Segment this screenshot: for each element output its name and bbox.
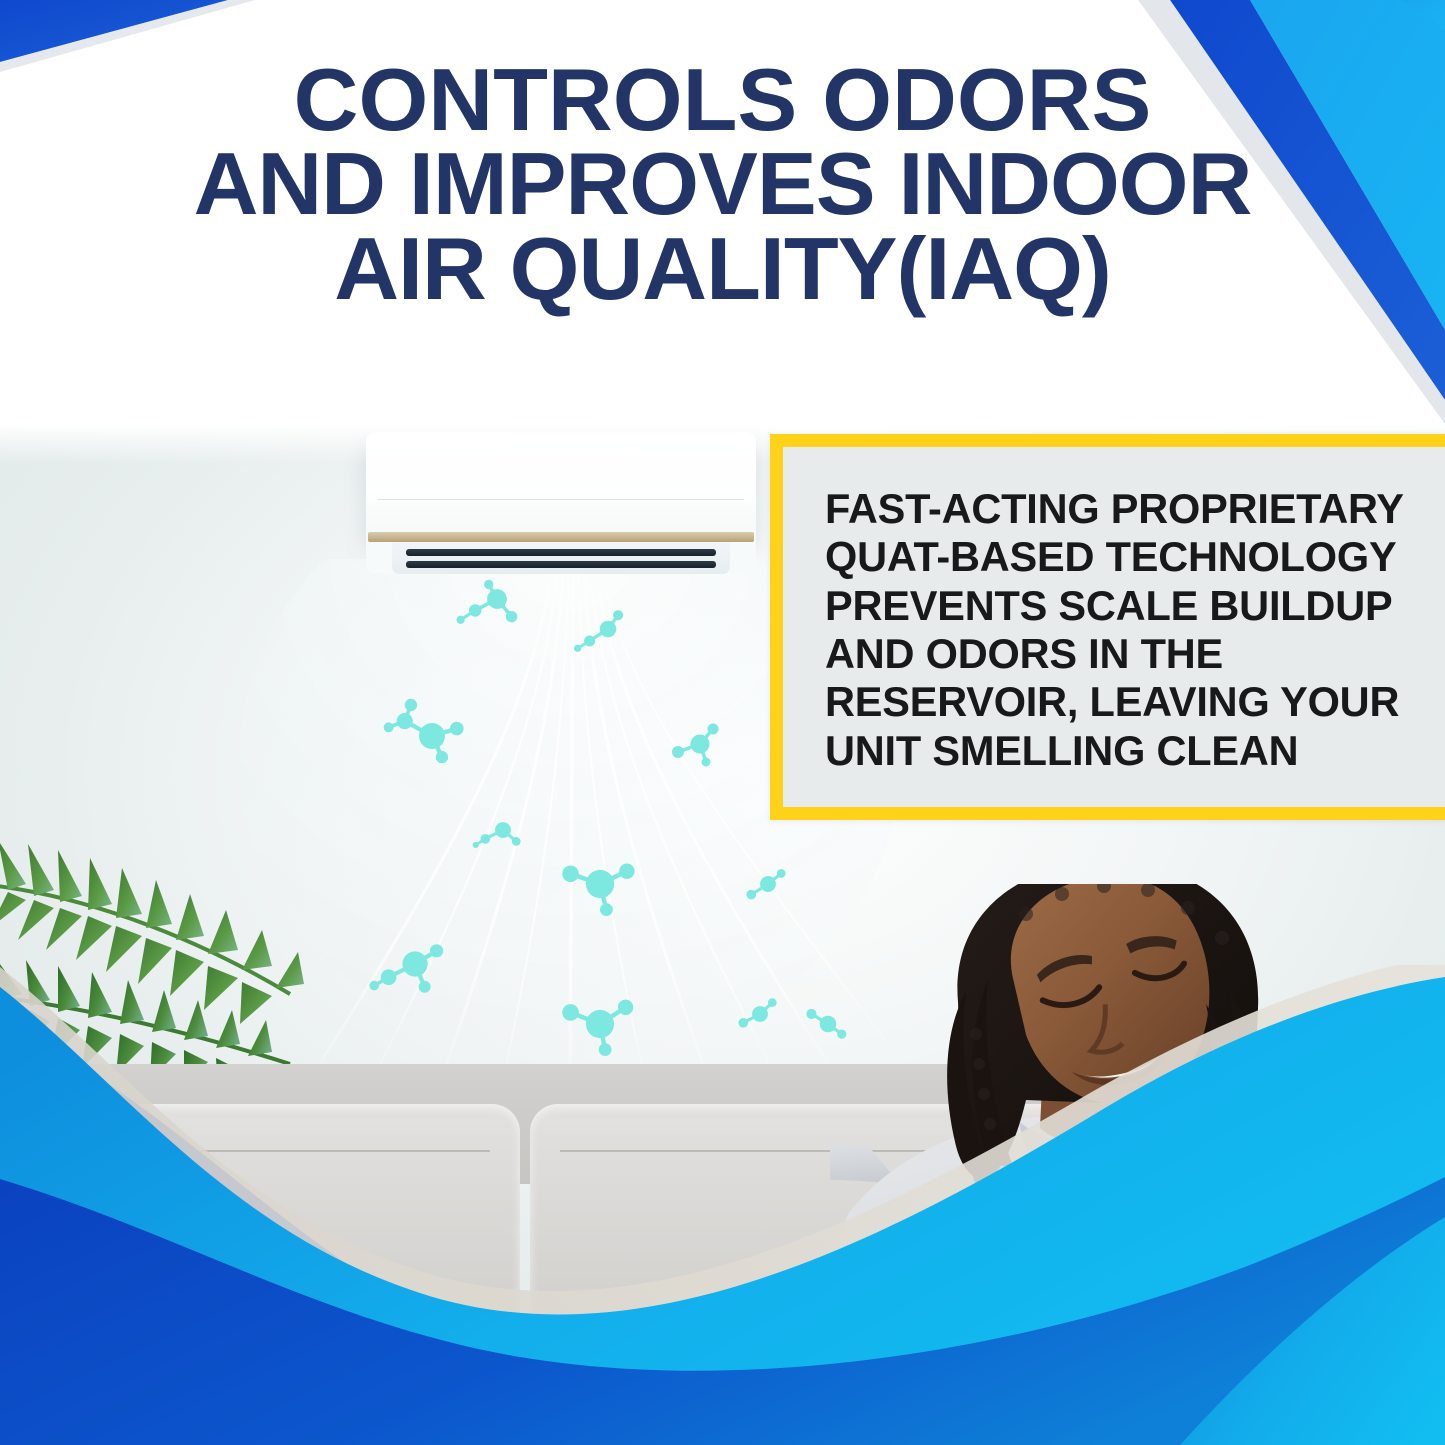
ac-louver-bottom <box>406 561 717 568</box>
ac-gold-trim <box>368 532 754 542</box>
feature-callout-inner: FAST-ACTING PROPRIETARY QUAT-BASED TECHN… <box>783 447 1445 807</box>
headline-line-3: AIR QUALITY(IAQ) <box>0 227 1445 311</box>
ac-louver-top <box>406 549 717 556</box>
person-relaxing <box>830 884 1445 1445</box>
headline-line-2: AND IMPROVES INDOOR <box>0 142 1445 226</box>
sofa-seam-left <box>20 1150 490 1152</box>
feature-callout-box: FAST-ACTING PROPRIETARY QUAT-BASED TECHN… <box>770 434 1445 820</box>
feature-callout-text: FAST-ACTING PROPRIETARY QUAT-BASED TECHN… <box>825 485 1431 775</box>
headline-line-1: CONTROLS ODORS <box>0 58 1445 142</box>
ac-vent <box>392 542 730 574</box>
poster-canvas: CONTROLS ODORS AND IMPROVES INDOOR AIR Q… <box>0 0 1445 1445</box>
sofa-cushion-left <box>0 1104 520 1404</box>
page-title: CONTROLS ODORS AND IMPROVES INDOOR AIR Q… <box>0 58 1445 311</box>
